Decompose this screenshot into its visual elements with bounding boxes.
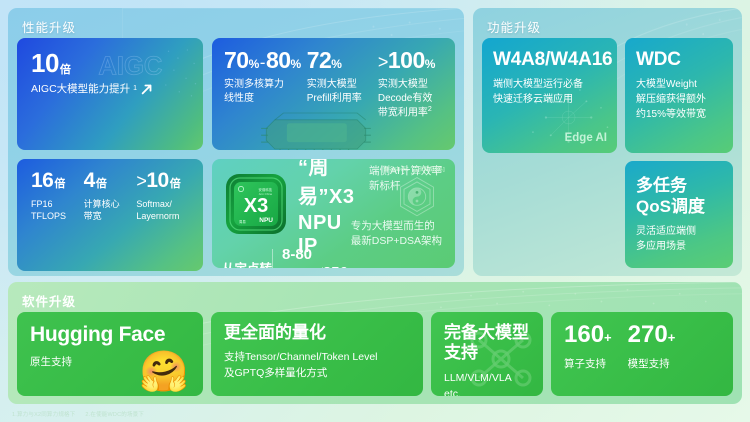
realtest-unit-a: % [331, 57, 341, 71]
function-panel: 功能升级 [473, 8, 742, 276]
realtest-item: 70%-80% 实测多核算力 线性度 [224, 49, 301, 120]
metric-item: 4倍 计算核心 带宽 [84, 170, 137, 222]
svg-text:周易: 周易 [239, 219, 246, 224]
metric-unit: 倍 [54, 178, 65, 190]
metric-item: >10倍 Softmax/ Layernorm [136, 170, 189, 222]
aigc-value: 10倍 [31, 50, 189, 76]
quantization-description: 支持Tensor/Channel/Token Level 及GPTQ多样量化方式 [224, 350, 410, 382]
performance-panel: 性能升级 AIGC [8, 8, 464, 276]
svg-text:NPU: NPU [259, 217, 273, 224]
realtest-value-a: 72 [307, 47, 332, 73]
npu-hero-card: X3 安谋科技 Arm China NPU 周易 “周易”X3 端侧A [212, 159, 455, 268]
operator-model-stats-card: 160+ 算子支持 270+ 模型支持 [551, 312, 733, 396]
aigc-unit: 倍 [60, 65, 71, 76]
realtest-label: 实测大模型 Prefill利用率 [307, 78, 372, 105]
realtest-separator: - [260, 53, 265, 72]
qos-title: 多任务 QoS调度 [636, 175, 722, 218]
realtest-unit-a: % [249, 57, 259, 71]
realtest-item: >100% 实测大模型 Decode有效 带宽利用率2 [378, 49, 443, 120]
arrow-up-right-icon [140, 82, 154, 96]
metric-unit: 倍 [170, 178, 181, 190]
quantization-card: 更全面的量化 支持Tensor/Channel/Token Level 及GPT… [211, 312, 423, 396]
software-panel: 软件升级 Hugging Face 原生支持 🤗 更全面的量化 支持Tensor… [8, 282, 742, 404]
molecule-icon [465, 326, 537, 392]
metric-value: 10 [146, 169, 168, 192]
metric-unit: 倍 [96, 178, 107, 190]
realtest-value-b: 80 [266, 47, 291, 73]
quantization-title: 更全面的量化 [224, 323, 410, 343]
function-bottom-row: 多任务 QoS调度 灵活适应端侧 多应用场景 [482, 161, 733, 269]
stat-label: 算子支持 [564, 356, 612, 371]
realtest-value-a: 100 [388, 47, 425, 73]
metric-value-block: 16倍 [31, 170, 84, 191]
wdc-description: 大模型Weight 解压缩获得额外 约15%等效带宽 [636, 77, 722, 122]
aigc-footnote-mark: 1 [133, 84, 137, 93]
realtest-value-block: >100% [378, 49, 443, 72]
realtest-label: 实测多核算力 线性度 [224, 78, 301, 105]
npu-hero-top: X3 安谋科技 Arm China NPU 周易 “周易”X3 端侧A [212, 159, 455, 243]
stats-row: 160+ 算子支持 270+ 模型支持 [564, 323, 720, 371]
metric-value-block: 4倍 [84, 170, 137, 191]
stat-number: 160 [564, 321, 604, 348]
bagua-taiji-icon [391, 175, 443, 227]
stat-value-block: 160+ [564, 323, 612, 347]
aigc-description-row: AIGC大模型能力提升1 [31, 82, 189, 96]
svg-text:Arm China: Arm China [259, 192, 273, 196]
bagua-caption: 命名由来：六十四卦[易] [383, 165, 445, 173]
hugging-face-card: Hugging Face 原生支持 🤗 [17, 312, 203, 396]
perf-metrics-card: 16倍 FP16 TFLOPS 4倍 计算核心 带宽 [17, 159, 203, 271]
metric-value: 16 [31, 169, 53, 192]
llm-support-card: 完备大模型支持 LLM/VLM/VLA etc. MoE [431, 312, 543, 396]
function-top-row: W4A8/W4A16 端侧大模型运行必备 快速迁移云端应用 Edge AI WD… [482, 38, 733, 153]
metric-prefix: > [136, 171, 146, 191]
aigc-metric-card: AIGC 10倍 AIGC大模型能力提升1 [17, 38, 203, 150]
realtest-prefix: > [378, 52, 388, 72]
realtest-metrics-card: 70%-80% 实测多核算力 线性度 72% 实测大模型 Prefill利用率 [212, 38, 455, 150]
metric-label: FP16 TFLOPS [31, 198, 84, 222]
npu-spec-item: 256GB/s 单Core带宽 [322, 263, 372, 268]
stat-plus: + [604, 330, 612, 345]
metric-value: 4 [84, 169, 95, 192]
npu-spec-item: 8-80 FP8 TFLOPS 单Cluster算力 [272, 245, 322, 268]
stat-plus: + [668, 330, 676, 345]
aigc-description: AIGC大模型能力提升 [31, 82, 130, 96]
npu-product-name: “周易”X3 [298, 159, 360, 209]
w4a8-feature-card: W4A8/W4A16 端侧大模型运行必备 快速迁移云端应用 Edge AI [482, 38, 617, 153]
function-grid: W4A8/W4A16 端侧大模型运行必备 快速迁移云端应用 Edge AI WD… [482, 38, 733, 268]
svg-text:X3: X3 [244, 195, 268, 217]
poster-root: 性能升级 AIGC [0, 0, 750, 422]
performance-content: AIGC 10倍 AIGC大模型能力提升1 [17, 38, 455, 268]
realtest-value-block: 70%-80% [224, 49, 301, 72]
w4a8-title: W4A8/W4A16 [493, 50, 606, 70]
metric-value-block: >10倍 [136, 170, 189, 191]
npu-spec-line1: 8-80 FP8 TFLOPS [272, 245, 322, 268]
realtest-value-a: 70 [224, 47, 249, 73]
npu-spec-line1: 256GB/s [322, 263, 372, 268]
realtest-value-block: 72% [307, 49, 372, 72]
wdc-feature-card: WDC 大模型Weight 解压缩获得额外 约15%等效带宽 [625, 38, 733, 153]
function-content: W4A8/W4A16 端侧大模型运行必备 快速迁移云端应用 Edge AI WD… [482, 38, 733, 268]
realtest-item: 72% 实测大模型 Prefill利用率 [307, 49, 372, 120]
stat-value-block: 270+ [628, 323, 676, 347]
realtest-unit-a: % [425, 57, 435, 71]
x3-npu-chip-icon: X3 安谋科技 Arm China NPU 周易 [224, 172, 288, 236]
perf-metrics-row: 16倍 FP16 TFLOPS 4倍 计算核心 带宽 [31, 170, 189, 222]
edge-ai-tag: Edge AI [565, 132, 607, 144]
top-row: 性能升级 AIGC [8, 8, 742, 276]
metric-label: 计算核心 带宽 [84, 198, 137, 222]
hugging-face-title: Hugging Face [30, 323, 190, 346]
realtest-label: 实测大模型 Decode有效 带宽利用率2 [378, 78, 443, 120]
npu-spec-line1: 从定点转向 [222, 261, 272, 268]
performance-right-column: 70%-80% 实测多核算力 线性度 72% 实测大模型 Prefill利用率 [212, 38, 455, 268]
metric-label: Softmax/ Layernorm [136, 198, 189, 222]
stat-label: 模型支持 [628, 356, 676, 371]
qos-description: 灵活适应端侧 多应用场景 [636, 224, 722, 254]
metric-item: 16倍 FP16 TFLOPS [31, 170, 84, 222]
realtest-unit-b: % [291, 57, 301, 71]
wdc-title: WDC [636, 50, 722, 70]
hugging-face-emoji-icon: 🤗 [139, 352, 189, 392]
footnote-item: 2.在使能WDC的场景下 [85, 412, 144, 418]
npu-spec-item: 从定点转向 浮点计算 [222, 261, 272, 268]
footnote-item: 1.算力与X2同算力规格下 [12, 412, 75, 418]
qos-feature-card: 多任务 QoS调度 灵活适应端侧 多应用场景 [625, 161, 733, 269]
realtest-footnote-mark: 2 [428, 106, 432, 113]
realtest-metrics-row: 70%-80% 实测多核算力 线性度 72% 实测大模型 Prefill利用率 [224, 49, 443, 120]
software-content: Hugging Face 原生支持 🤗 更全面的量化 支持Tensor/Chan… [17, 312, 733, 396]
performance-panel-title: 性能升级 [22, 17, 76, 36]
stat-number: 270 [628, 321, 668, 348]
stat-item: 270+ 模型支持 [628, 323, 676, 371]
function-panel-title: 功能升级 [487, 17, 541, 36]
stat-item: 160+ 算子支持 [564, 323, 612, 371]
footnotes: 1.算力与X2同算力规格下2.在使能WDC的场景下 [12, 410, 154, 418]
performance-left-column: AIGC 10倍 AIGC大模型能力提升1 [17, 38, 203, 268]
software-panel-title: 软件升级 [22, 291, 76, 310]
